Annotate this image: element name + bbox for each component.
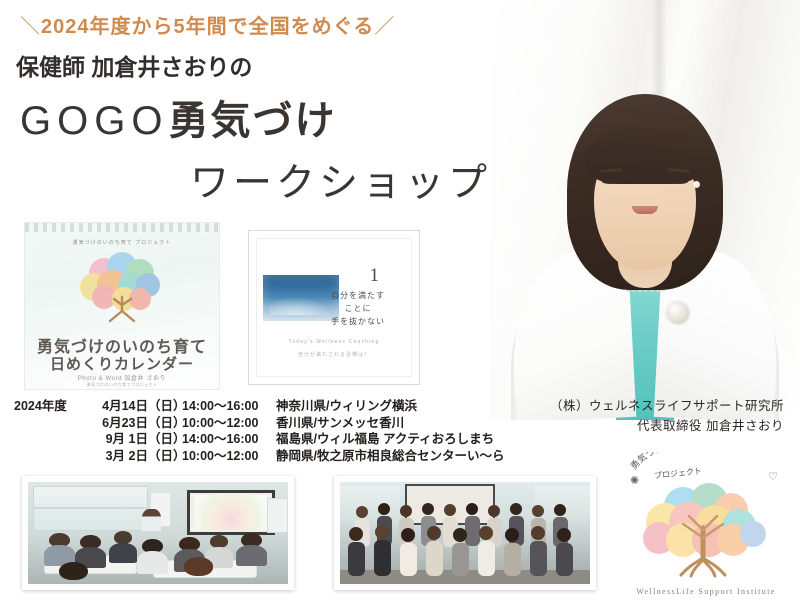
portrait-fringe bbox=[584, 128, 706, 184]
schedule-venue: 香川県/サンメッセ香川 bbox=[276, 415, 404, 432]
schedule-date: 3月 2日 bbox=[86, 448, 148, 465]
coaching-label: Today's Wellness Coaching bbox=[249, 339, 419, 345]
schedule-venue: 福島県/ウィル福島 アクティおろしまち bbox=[276, 431, 494, 448]
main-title: GOGO勇気づけ bbox=[20, 88, 336, 146]
calendar-page-message: 自分を満たす ことに 手を抜かない bbox=[315, 289, 401, 328]
main-title-line2: ワークショップ bbox=[190, 152, 491, 208]
organizer-company: （株）ウェルネスライフサポート研究所 bbox=[550, 396, 784, 416]
table-row: 9月 1日 （日） 14:00〜16:00 福島県/ウィル福島 アクティおろしま… bbox=[14, 431, 504, 448]
attendee-head bbox=[59, 562, 88, 580]
attendee-head bbox=[184, 557, 213, 575]
main-title-jp: 勇気づけ bbox=[168, 99, 336, 143]
logo-caption: WellnessLife Support Institute bbox=[618, 587, 794, 596]
schedule-day: （日） bbox=[148, 431, 182, 448]
calendar-credit-sub: 勇気づけのいのち育てプロジェクト bbox=[25, 382, 219, 388]
project-logo: 勇気づけのいのち育て プロジェクト ✺ ♡ bbox=[618, 452, 794, 598]
schedule-day: （日） bbox=[148, 448, 182, 465]
calendar-title-line2: 日めくりカレンダー bbox=[25, 353, 219, 374]
whiteboard-icon bbox=[267, 498, 288, 533]
table-row: 3月 2日 （日） 10:00〜12:00 静岡県/牧之原市相良総合センターい〜… bbox=[14, 448, 504, 465]
message-line-2: ことに bbox=[315, 302, 401, 315]
group-photo bbox=[340, 482, 590, 584]
seminar-photo bbox=[28, 482, 288, 584]
spiral-binding-icon bbox=[25, 223, 219, 232]
schedule-venue: 静岡県/牧之原市相良総合センターい〜ら bbox=[276, 448, 504, 465]
schedule-date: 6月23日 bbox=[86, 415, 148, 432]
portrait-brooch bbox=[667, 302, 689, 324]
coaching-question: 自分が満たされる習慣は？ bbox=[249, 351, 419, 358]
organizer-block: （株）ウェルネスライフサポート研究所 代表取締役 加倉井さおり bbox=[550, 396, 784, 436]
slash-right-icon: ／ bbox=[374, 16, 395, 38]
schedule-time: 10:00〜12:00 bbox=[182, 415, 276, 432]
schedule-list: 2024年度 4月14日 （日） 14:00〜16:00 神奈川県/ウィリング横… bbox=[14, 398, 504, 464]
attendee-torso bbox=[109, 543, 138, 562]
calendar-tree-logo-icon bbox=[64, 249, 180, 325]
slash-left-icon: ＼ bbox=[20, 16, 41, 38]
calendar-page-image: 1 自分を満たす ことに 手を抜かない Today's Wellness Coa… bbox=[248, 230, 420, 385]
organizer-role-name: 代表取締役 加倉井さおり bbox=[550, 416, 784, 436]
schedule-day: （日） bbox=[148, 415, 182, 432]
calendar-cover-image: 勇気づけのいのち育て プロジェクト 勇気づけのいのち育て 日めくりカレンダー P… bbox=[24, 222, 220, 390]
group-photo-frame bbox=[334, 476, 596, 590]
projector-screen-icon bbox=[187, 490, 275, 535]
portrait-eye-left bbox=[602, 179, 618, 184]
schedule-time: 14:00〜16:00 bbox=[182, 398, 276, 415]
group-figures bbox=[340, 482, 590, 584]
portrait-mouth bbox=[632, 206, 658, 214]
calendar-credit: Photo & Word 加倉井 さおり bbox=[25, 373, 219, 382]
presenter-figure bbox=[142, 509, 160, 531]
presenter-portrait bbox=[490, 0, 800, 420]
schedule-date: 9月 1日 bbox=[86, 431, 148, 448]
schedule-time: 10:00〜12:00 bbox=[182, 448, 276, 465]
main-title-latin: GOGO bbox=[20, 99, 168, 143]
catch-copy: ＼2024年度から5年間で全国をめぐる／ bbox=[20, 10, 395, 39]
portrait-eye-right bbox=[672, 179, 688, 184]
poster-root: ＼2024年度から5年間で全国をめぐる／ 保健師 加倉井さおりの GOGO勇気づ… bbox=[0, 0, 800, 600]
message-line-3: 手を抜かない bbox=[315, 315, 401, 328]
schedule-year-label: 2024年度 bbox=[14, 398, 86, 415]
attendee-torso bbox=[137, 551, 168, 573]
seminar-scene bbox=[28, 482, 288, 584]
schedule-venue: 神奈川県/ウィリング横浜 bbox=[276, 398, 417, 415]
portrait-earring bbox=[693, 181, 700, 188]
attendee-torso bbox=[236, 545, 267, 565]
table-row: 2024年度 4月14日 （日） 14:00〜16:00 神奈川県/ウィリング横… bbox=[14, 398, 504, 415]
schedule-day: （日） bbox=[148, 398, 182, 415]
table-row: 6月23日 （日） 10:00〜12:00 香川県/サンメッセ香川 bbox=[14, 415, 504, 432]
group-scene bbox=[340, 482, 590, 584]
window-icon bbox=[33, 486, 147, 531]
tree-logo-icon bbox=[631, 476, 781, 580]
calendar-page-number: 1 bbox=[370, 265, 380, 287]
presenter-subtitle: 保健師 加倉井さおりの bbox=[16, 48, 252, 82]
schedule-date: 4月14日 bbox=[86, 398, 148, 415]
message-line-1: 自分を満たす bbox=[315, 289, 401, 302]
schedule-time: 14:00〜16:00 bbox=[182, 431, 276, 448]
seminar-photo-frame bbox=[22, 476, 294, 590]
catch-copy-text: 2024年度から5年間で全国をめぐる bbox=[41, 16, 374, 38]
